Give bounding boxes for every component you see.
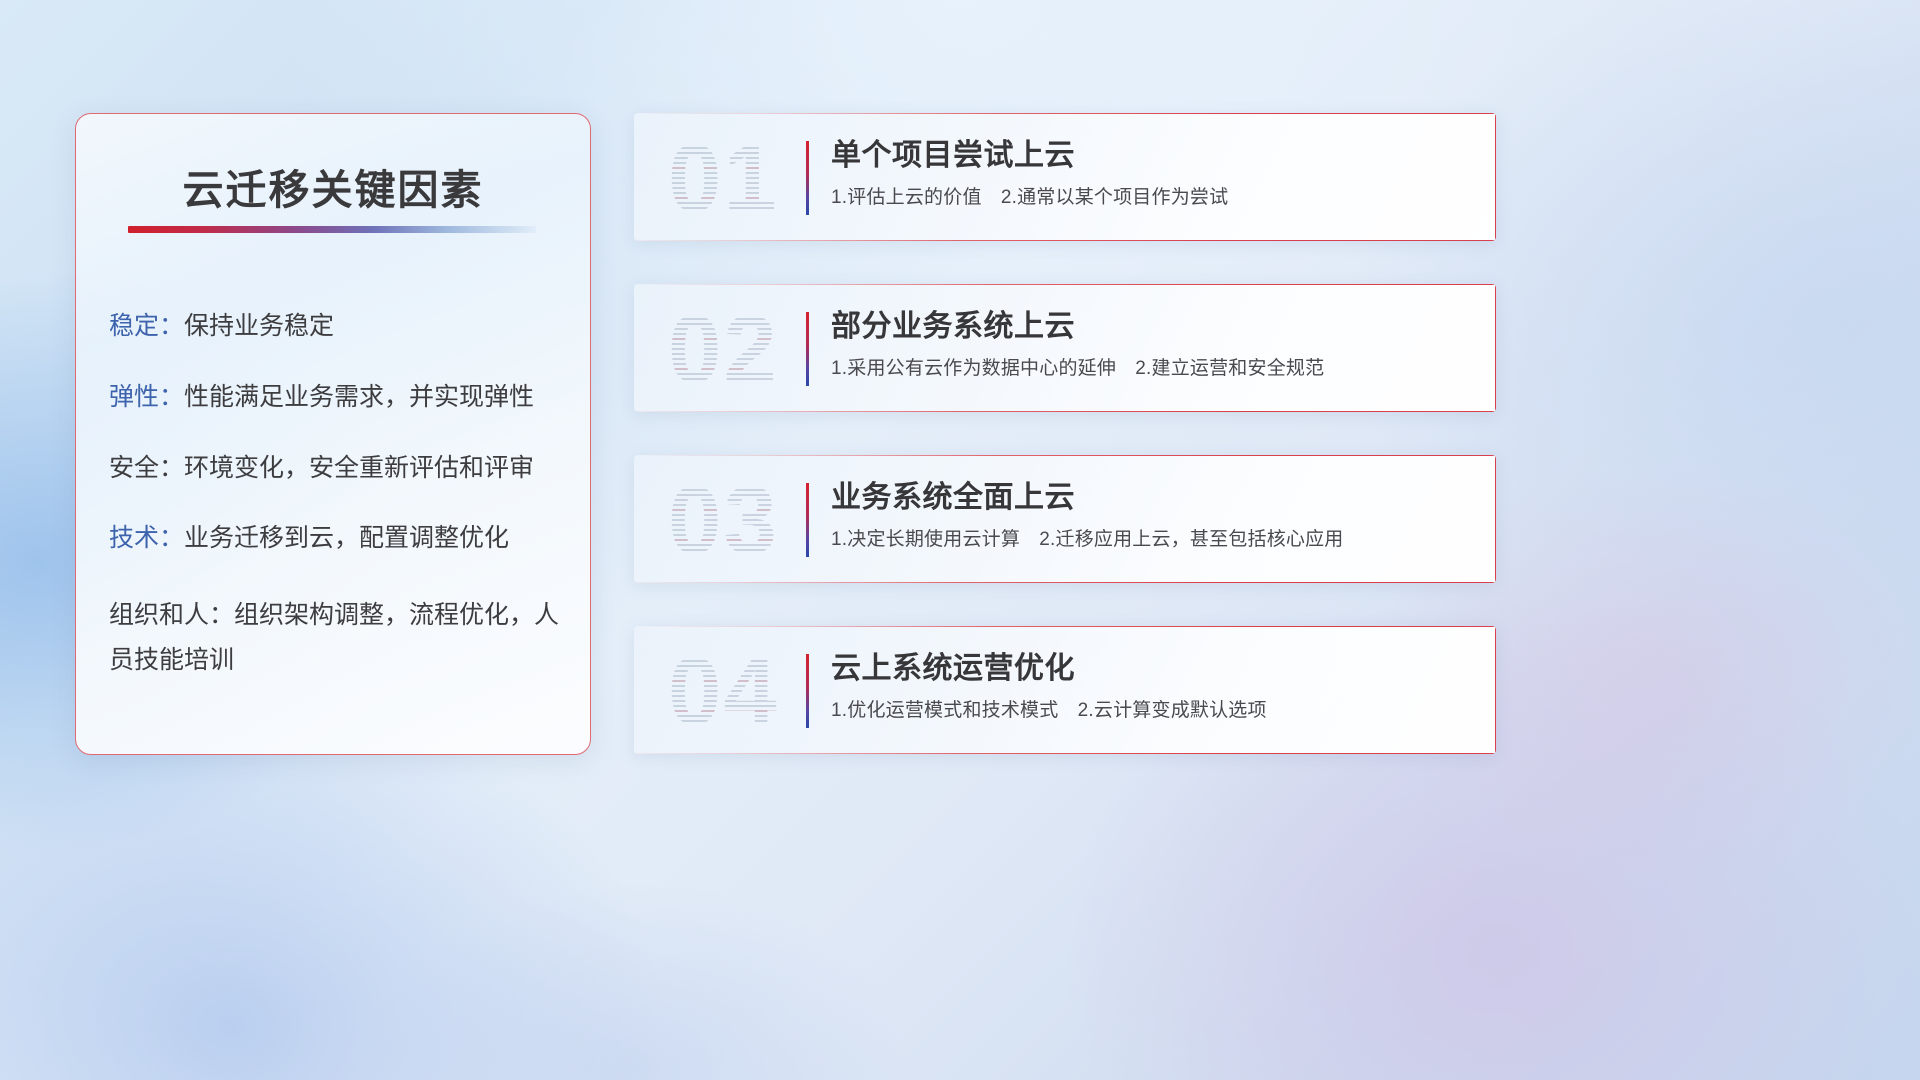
slide-stage: 云迁移关键因素 稳定：保持业务稳定 弹性：性能满足业务需求，并实现弹性 安全：环… xyxy=(0,0,1920,1080)
factor-text: 环境变化，安全重新评估和评审 xyxy=(184,454,534,482)
stage-card-title: 云上系统运营优化 xyxy=(831,650,1476,688)
factor-text: 性能满足业务需求，并实现弹性 xyxy=(184,383,534,411)
card-divider-bar xyxy=(806,312,809,386)
stage-card-body: 单个项目尝试上云 1.评估上云的价值 2.通常以某个项目作为尝试 xyxy=(831,137,1476,211)
page-title: 云迁移关键因素 xyxy=(76,156,590,216)
migration-stage-cards: 01 01 单个项目尝试上云 1.评估上云的价值 2.通常以某个项目作为尝试 0… xyxy=(634,113,1496,797)
factor-row: 稳定：保持业务稳定 xyxy=(109,310,566,344)
stage-card-02[interactable]: 02 02 部分业务系统上云 1.采用公有云作为数据中心的延伸 2.建立运营和安… xyxy=(634,284,1496,412)
factor-list: 稳定：保持业务稳定 弹性：性能满足业务需求，并实现弹性 安全：环境变化，安全重新… xyxy=(109,310,566,682)
stage-card-body: 部分业务系统上云 1.采用公有云作为数据中心的延伸 2.建立运营和安全规范 xyxy=(831,308,1476,382)
stage-card-title: 业务系统全面上云 xyxy=(831,479,1476,517)
key-factors-panel: 云迁移关键因素 稳定：保持业务稳定 弹性：性能满足业务需求，并实现弹性 安全：环… xyxy=(75,113,591,755)
factor-label: 稳定： xyxy=(109,312,184,340)
stage-number-ghost-tint: 02 xyxy=(668,298,838,402)
stage-card-01[interactable]: 01 01 单个项目尝试上云 1.评估上云的价值 2.通常以某个项目作为尝试 xyxy=(634,113,1496,241)
stage-number-ghost-tint: 04 xyxy=(668,640,838,744)
factor-row: 弹性：性能满足业务需求，并实现弹性 xyxy=(109,381,566,415)
factor-label: 技术： xyxy=(109,524,184,552)
title-underline-accent xyxy=(128,226,536,233)
card-divider-bar xyxy=(806,483,809,557)
factor-row: 技术：业务迁移到云，配置调整优化 xyxy=(109,522,566,556)
stage-card-description: 1.决定长期使用云计算 2.迁移应用上云，甚至包括核心应用 xyxy=(831,528,1476,553)
factor-label: 弹性： xyxy=(109,383,184,411)
stage-card-03[interactable]: 03 03 业务系统全面上云 1.决定长期使用云计算 2.迁移应用上云，甚至包括… xyxy=(634,455,1496,583)
card-divider-bar xyxy=(806,654,809,728)
stage-card-title: 单个项目尝试上云 xyxy=(831,137,1476,175)
stage-card-body: 业务系统全面上云 1.决定长期使用云计算 2.迁移应用上云，甚至包括核心应用 xyxy=(831,479,1476,553)
factor-text: 保持业务稳定 xyxy=(184,312,334,340)
stage-card-description: 1.评估上云的价值 2.通常以某个项目作为尝试 xyxy=(831,186,1476,211)
key-factors-panel-inner: 云迁移关键因素 稳定：保持业务稳定 弹性：性能满足业务需求，并实现弹性 安全：环… xyxy=(76,114,590,754)
stage-card-title: 部分业务系统上云 xyxy=(831,308,1476,346)
stage-number-ghost-tint: 01 xyxy=(668,127,838,231)
factor-text: 业务迁移到云，配置调整优化 xyxy=(184,524,509,552)
factor-label: 组织和人： xyxy=(109,601,234,629)
stage-card-body: 云上系统运营优化 1.优化运营模式和技术模式 2.云计算变成默认选项 xyxy=(831,650,1476,724)
stage-card-04[interactable]: 04 04 云上系统运营优化 1.优化运营模式和技术模式 2.云计算变成默认选项 xyxy=(634,626,1496,754)
factor-row: 组织和人：组织架构调整，流程优化，人员技能培训 xyxy=(109,593,566,682)
card-divider-bar xyxy=(806,141,809,215)
factor-row: 安全：环境变化，安全重新评估和评审 xyxy=(109,452,566,486)
stage-card-description: 1.优化运营模式和技术模式 2.云计算变成默认选项 xyxy=(831,699,1476,724)
factor-label: 安全： xyxy=(109,454,184,482)
stage-number-ghost-tint: 03 xyxy=(668,469,838,573)
stage-card-description: 1.采用公有云作为数据中心的延伸 2.建立运营和安全规范 xyxy=(831,357,1476,382)
